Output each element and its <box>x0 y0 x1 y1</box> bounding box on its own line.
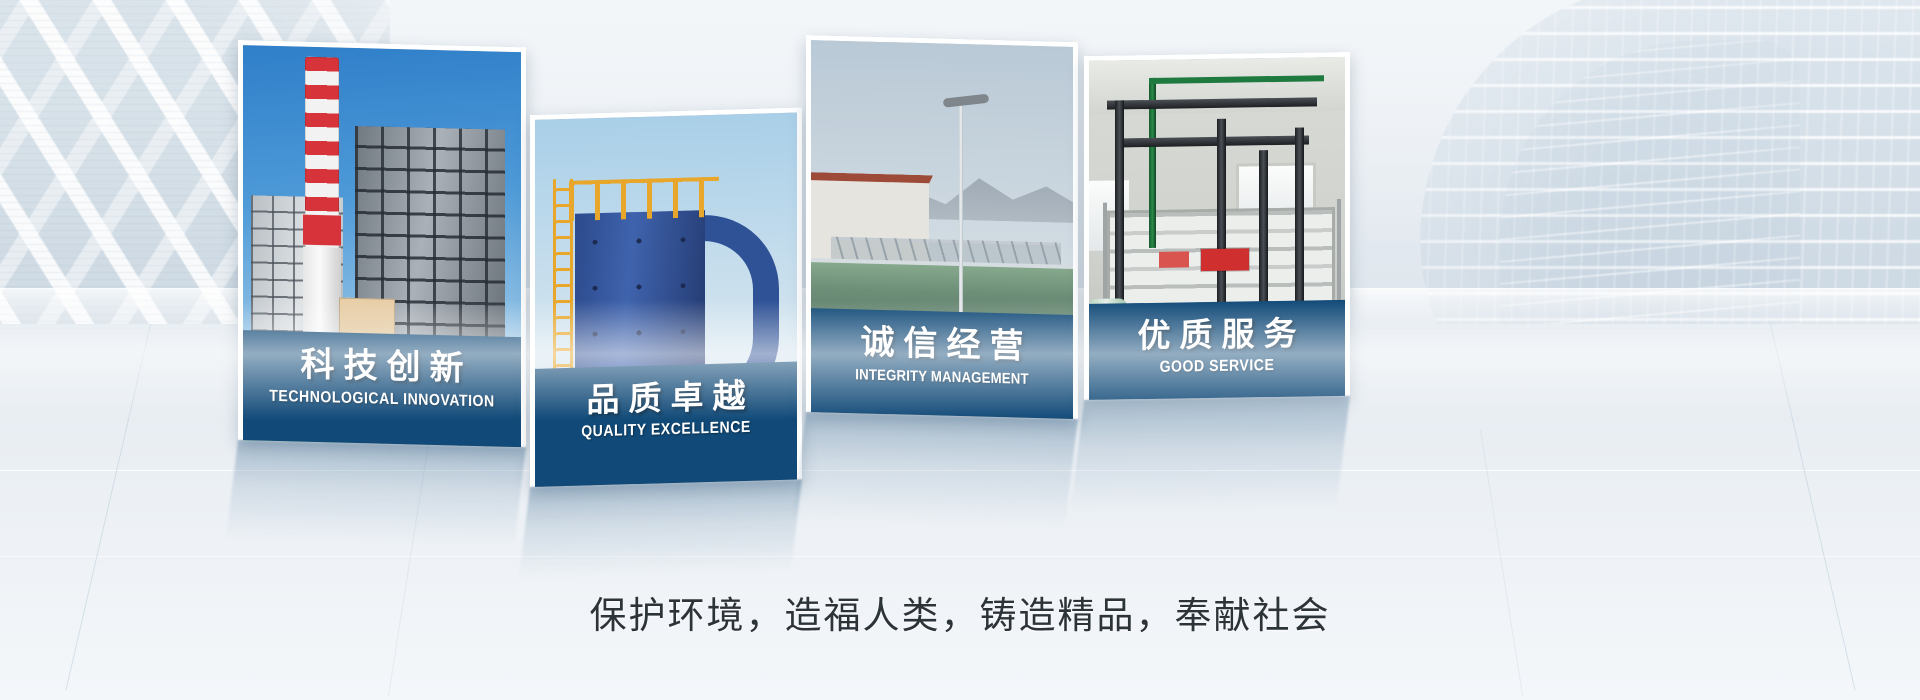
panel-title-en: TECHNOLOGICAL INNOVATION <box>260 387 505 411</box>
panel-title-en: INTEGRITY MANAGEMENT <box>827 365 1058 388</box>
panel-caption: 诚信经营 INTEGRITY MANAGEMENT <box>811 308 1073 419</box>
banner-tagline: 保护环境，造福人类，铸造精品，奉献社会 <box>0 585 1920 639</box>
feature-panel-good-service[interactable]: 优质服务 GOOD SERVICE <box>1084 52 1350 400</box>
feature-panel-technological-innovation[interactable]: 科技创新 TECHNOLOGICAL INNOVATION <box>238 40 526 447</box>
panel-title-en: QUALITY EXCELLENCE <box>551 418 782 442</box>
panel-caption: 优质服务 GOOD SERVICE <box>1089 300 1345 400</box>
hero-banner: 科技创新 TECHNOLOGICAL INNOVATION 品质卓越 QUALI… <box>0 0 1920 700</box>
feature-panel-integrity-management[interactable]: 诚信经营 INTEGRITY MANAGEMENT <box>806 35 1078 419</box>
panel-title-cn: 诚信经营 <box>811 324 1073 367</box>
panel-caption: 科技创新 TECHNOLOGICAL INNOVATION <box>243 330 521 447</box>
panel-title-cn: 品质卓越 <box>535 378 797 420</box>
feature-panel-quality-excellence[interactable]: 品质卓越 QUALITY EXCELLENCE <box>530 107 802 487</box>
panel-title-cn: 科技创新 <box>243 346 521 389</box>
panel-caption: 品质卓越 QUALITY EXCELLENCE <box>535 362 797 487</box>
panel-title-cn: 优质服务 <box>1089 316 1345 355</box>
panel-title-en: GOOD SERVICE <box>1104 356 1329 378</box>
